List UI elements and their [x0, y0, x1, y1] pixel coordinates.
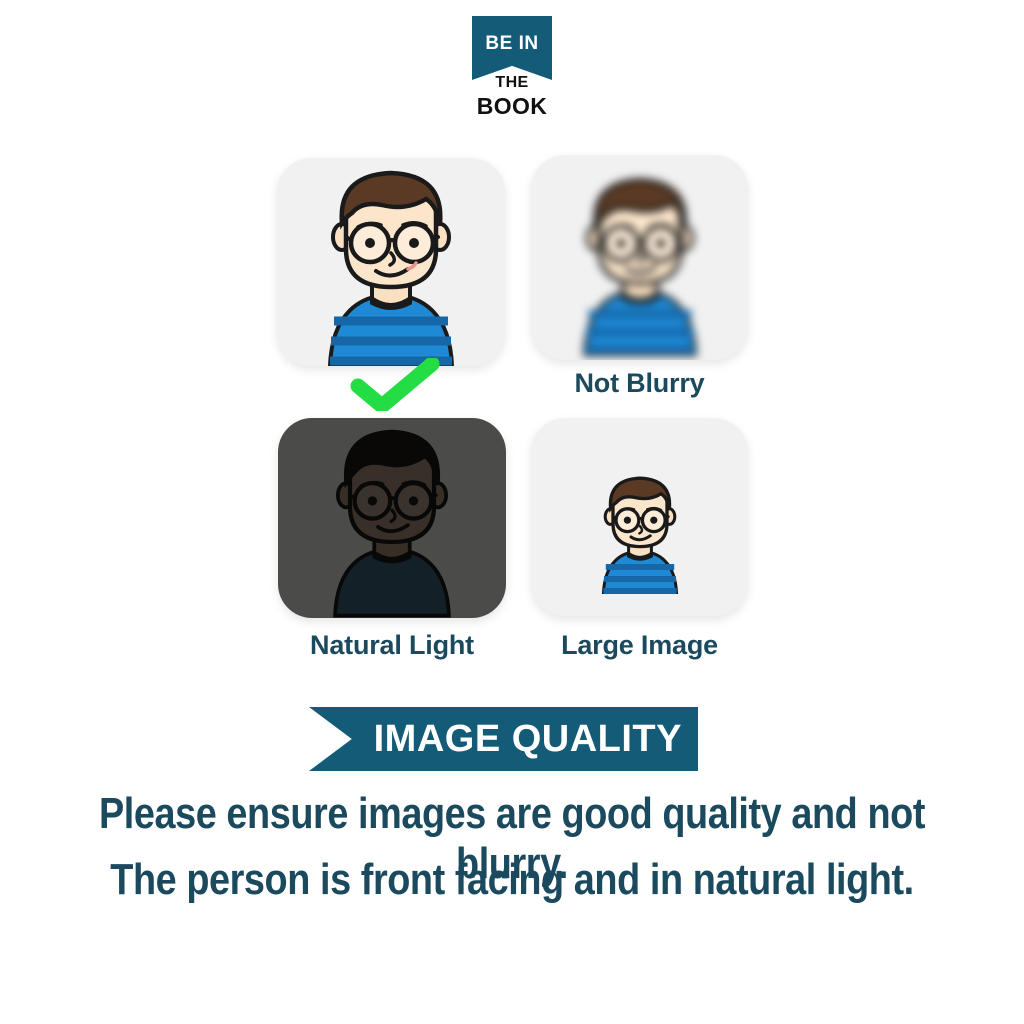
image-quality-guidance-graphic: BE IN THE BOOK	[0, 0, 1024, 1024]
example-card-good[interactable]	[277, 158, 505, 366]
avatar-blurred	[531, 155, 748, 360]
check-icon	[348, 358, 444, 412]
image-quality-banner: IMAGE QUALITY	[309, 707, 698, 771]
example-card-large-image[interactable]	[531, 418, 748, 616]
avatar-small	[531, 418, 748, 616]
banner-title: IMAGE QUALITY	[374, 720, 682, 758]
example-card-natural-light[interactable]	[278, 418, 506, 618]
man-with-glasses-icon	[294, 422, 490, 618]
man-with-glasses-icon	[545, 164, 735, 360]
card-label-not-blurry: Not Blurry	[531, 368, 748, 399]
card-label-large-image: Large Image	[531, 630, 748, 661]
avatar-dark	[278, 418, 506, 618]
caption-line-2: The person is front facing and in natura…	[72, 855, 953, 905]
avatar-good	[277, 158, 505, 366]
example-card-not-blurry[interactable]	[531, 155, 748, 360]
man-with-glasses-icon	[577, 471, 703, 594]
man-with-glasses-icon	[286, 161, 496, 366]
card-label-natural-light: Natural Light	[278, 630, 506, 661]
